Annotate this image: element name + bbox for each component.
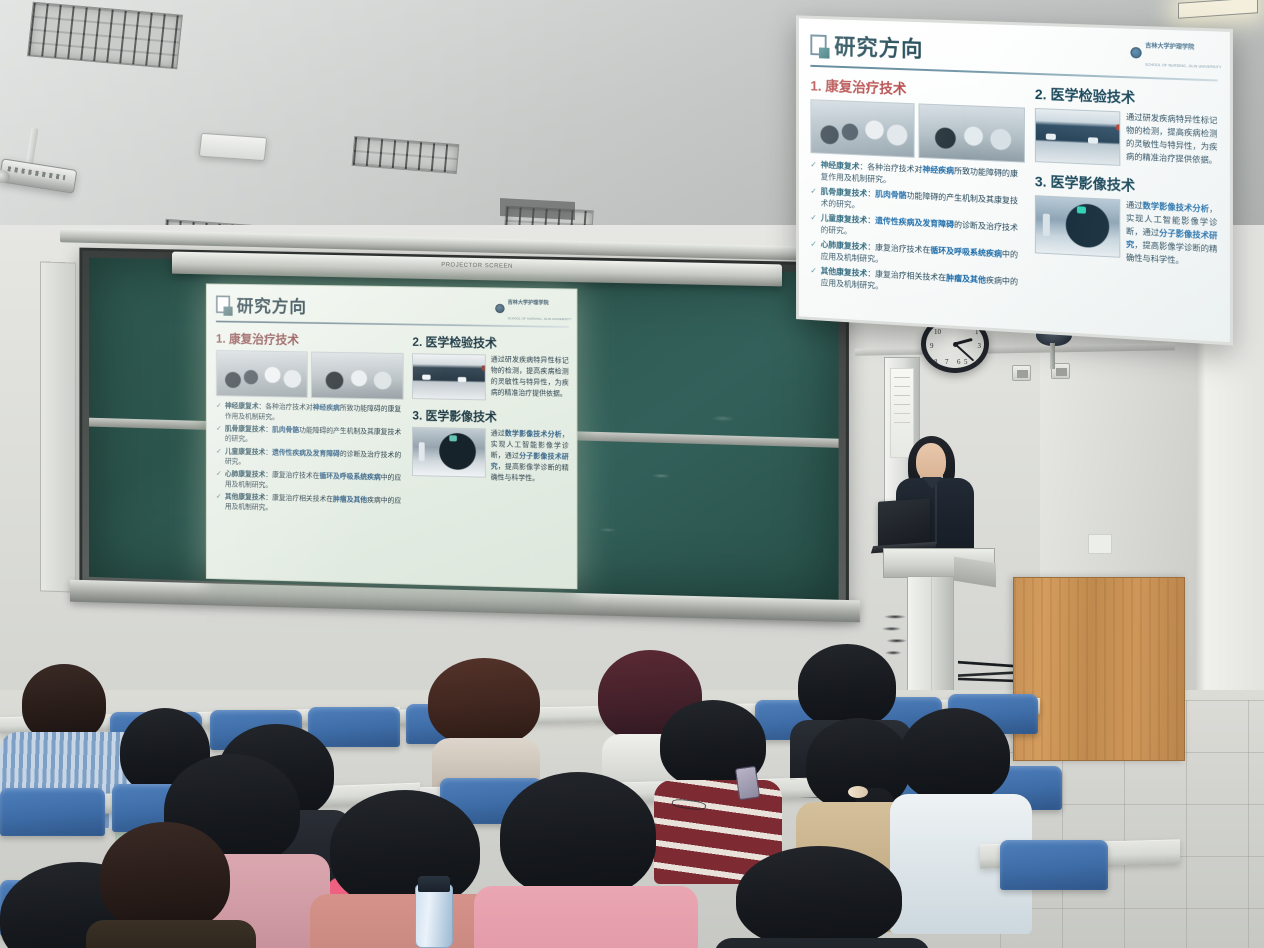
bullet-highlight: 遗传性疾病及发育障碍: [875, 216, 954, 229]
section-2-content: 通过研发疾病特异性标记物的检测，提高疾病检测的灵敏性与特异性，为疾病的精准治疗提…: [1035, 108, 1218, 170]
rehab-training-photo: [216, 350, 308, 398]
slide-columns: 1. 康复治疗技术 ✓ 神经康复术：各种治疗技术对神经疾病所致功能障碍的康复作用…: [810, 76, 1217, 315]
logo-mark-icon: [496, 303, 505, 312]
s3-pre: 通过: [491, 429, 505, 437]
section-3-heading: 3. 医学影像技术: [1035, 171, 1218, 200]
person-hair: [900, 708, 1010, 802]
clinical-lab-photo: [311, 352, 404, 400]
bullet-term: 神经康复术: [225, 402, 259, 410]
wall-mounted-led-display: 吉林大学护理学院 SCHOOL OF NURSING, JILIN UNIVER…: [796, 15, 1233, 345]
mobile-phone[interactable]: [735, 766, 760, 801]
projection-screen: 吉林大学护理学院 SCHOOL OF NURSING, JILIN UNIVER…: [206, 283, 578, 589]
wooden-door-panel[interactable]: [1013, 577, 1185, 761]
posted-notice: [890, 368, 914, 458]
section-1-title: 康复治疗技术: [229, 332, 299, 347]
person-hair: [500, 772, 656, 898]
section-3-title: 医学影像技术: [426, 409, 497, 424]
bullet-highlight: 肿瘤及其他: [333, 495, 367, 503]
logo-text: 吉林大学护理学院: [1145, 43, 1194, 51]
speaker-stem: [1050, 343, 1055, 369]
list-item: ✓ 心肺康复技术：康复治疗技术在循环及呼吸系统疾病中的应用及机制研究。: [216, 469, 404, 493]
section-1-number: 1.: [216, 332, 226, 346]
section-1-number: 1.: [810, 78, 821, 94]
person-hair: [330, 790, 480, 908]
section-3-number: 3.: [412, 408, 422, 422]
section-2-title: 医学检验技术: [1050, 86, 1135, 105]
bullet-term: 心肺康复技术: [821, 240, 868, 251]
s3-hl1: 数学影像技术分析: [505, 430, 562, 439]
bullet-text: 康复治疗相关技术在: [272, 494, 333, 503]
section-3-title: 医学影像技术: [1050, 174, 1135, 194]
check-icon: ✓: [216, 446, 222, 466]
list-item: ✓ 神经康复术：各种治疗技术对神经疾病所致功能障碍的康复作用及机制研究。: [216, 401, 404, 425]
bullet-term: 肌骨康复技术: [225, 425, 265, 433]
logo-subtext: SCHOOL OF NURSING, JILIN UNIVERSITY: [1145, 63, 1221, 70]
auditorium-seat[interactable]: [0, 788, 105, 836]
clinical-lab-photo: [918, 103, 1024, 162]
person-hair: [22, 664, 106, 742]
hair-scrunchie: [848, 786, 868, 798]
check-icon: ✓: [810, 185, 816, 208]
slide-column-left: 1. 康复治疗技术 ✓ 神经康复术：各种治疗技术对神经疾病所致功能障碍的康复作用…: [216, 330, 404, 519]
section-2-number: 2.: [412, 335, 422, 349]
check-icon: ✓: [216, 424, 222, 444]
bullet-term: 儿童康复技术: [225, 447, 265, 455]
presenter-laptop[interactable]: [878, 498, 930, 548]
person-torso: [714, 938, 930, 948]
person-hair: [428, 658, 540, 746]
section-2-number: 2.: [1035, 86, 1047, 102]
section-1-photos: [216, 350, 404, 400]
bullet-term: 神经康复术: [821, 160, 860, 171]
section-2-content: 通过研发疾病特异性标记物的检测，提高疾病检测的灵敏性与特异性，为疾病的精准治疗提…: [412, 353, 568, 402]
section-1-title: 康复治疗技术: [825, 78, 906, 97]
slide-columns: 1. 康复治疗技术 ✓ 神经康复术：各种治疗技术对神经疾病所致功能障碍的康复作用…: [216, 330, 569, 523]
bullet-text: 各种治疗技术对: [867, 163, 922, 174]
power-outlet[interactable]: [1012, 365, 1031, 381]
slide-column-left: 1. 康复治疗技术 ✓ 神经康复术：各种治疗技术对神经疾病所致功能障碍的康复作用…: [810, 76, 1025, 304]
check-icon: ✓: [216, 401, 222, 421]
bullet-highlight: 肌肉骨骼: [272, 426, 299, 434]
bullet-text: 康复治疗技术在: [272, 471, 319, 480]
ct-scanner-photo: [1035, 195, 1120, 258]
section-1-heading: 1. 康复治疗技术: [810, 76, 1025, 104]
section-2-body: 通过研发疾病特异性标记物的检测，提高疾病检测的灵敏性与特异性，为疾病的精准治疗提…: [1126, 112, 1217, 168]
section-3-body: 通过数学影像技术分析，实现人工智能影像学诊断，通过分子影像技术研究，提高影像学诊…: [1126, 199, 1217, 269]
bullet-term: 儿童康复技术: [821, 213, 868, 224]
section-3-content: 通过数学影像技术分析，实现人工智能影像学诊断，通过分子影像技术研究，提高影像学诊…: [412, 427, 568, 485]
section-3-heading: 3. 医学影像技术: [412, 407, 568, 427]
person-torso: [474, 886, 698, 948]
person-torso: [86, 920, 256, 948]
bullet-term: 其他康复技术: [225, 493, 265, 502]
presenter-head: [916, 443, 946, 481]
s3-pre: 通过: [1126, 201, 1143, 211]
document-square-icon: [810, 34, 826, 55]
section-1-photos: [810, 99, 1025, 162]
wall-plate: [1088, 534, 1112, 554]
person-hair: [798, 644, 896, 728]
bullet-highlight: 肿瘤及其他: [946, 273, 986, 284]
slide-title: 研究方向: [834, 29, 923, 64]
section-2-heading: 2. 医学检验技术: [412, 333, 568, 353]
section-3-content: 通过数学影像技术分析，实现人工智能影像学诊断，通过分子影像技术研究，提高影像学诊…: [1035, 195, 1218, 270]
bottle-cap[interactable]: [418, 876, 450, 892]
section-1-heading: 1. 康复治疗技术: [216, 330, 404, 350]
laboratory-analyzer-photo: [1035, 108, 1120, 166]
check-icon: ✓: [810, 212, 816, 235]
check-icon: ✓: [216, 469, 222, 489]
list-item: ✓ 其他康复技术：康复治疗相关技术在肿瘤及其他疾病中的应用及机制研究。: [216, 491, 404, 515]
jilin-university-logo: 吉林大学护理学院 SCHOOL OF NURSING, JILIN UNIVER…: [1131, 34, 1222, 74]
logo-subtext: SCHOOL OF NURSING, JILIN UNIVERSITY: [508, 317, 572, 321]
bullet-term: 其他康复技术: [821, 266, 868, 277]
s3-end: ，提高影像学诊断的精确性与科学性。: [1126, 240, 1217, 265]
ceiling-lamp: [199, 133, 268, 161]
bullet-text: 康复治疗相关技术在: [875, 269, 946, 282]
bullet-term: 心肺康复技术: [225, 470, 265, 478]
bullet-term: 肌骨康复技术: [821, 187, 868, 198]
auditorium-seat[interactable]: [1000, 840, 1108, 890]
section-3-number: 3.: [1035, 173, 1047, 190]
water-bottle[interactable]: [415, 884, 453, 948]
rehab-training-photo: [810, 99, 914, 158]
check-icon: ✓: [810, 159, 816, 182]
check-icon: ✓: [810, 265, 816, 288]
document-square-icon: [216, 295, 230, 313]
bullet-text: 康复治疗技术在: [875, 243, 930, 255]
check-icon: ✓: [810, 238, 816, 261]
logo-mark-icon: [1131, 46, 1142, 58]
ceiling-opening: [500, 198, 575, 220]
auditorium-seat[interactable]: [308, 707, 400, 747]
bullet-highlight: 神经疾病: [922, 165, 954, 175]
logo-text: 吉林大学护理学院: [508, 301, 549, 307]
s3-hl1: 数学影像技术分析: [1143, 201, 1210, 213]
ct-scanner-photo: [412, 427, 485, 478]
lecture-hall-photo: 12 3 6 9 1 4 5 7 8 10 PROJECTOR SCREEN 吉…: [0, 0, 1264, 948]
slide-title: 研究方向: [237, 292, 307, 317]
jilin-university-logo: 吉林大学护理学院 SCHOOL OF NURSING, JILIN UNIVER…: [496, 293, 572, 325]
section-1-bullets: ✓ 神经康复术：各种治疗技术对神经疾病所致功能障碍的康复作用及机制研究。 ✓ 肌…: [810, 159, 1025, 300]
slide-column-right: 2. 医学检验技术 通过研发疾病特异性标记物的检测，提高疾病检测的灵敏性与特异性…: [1035, 84, 1218, 315]
bullet-highlight: 神经疾病: [313, 404, 340, 412]
slide-content-projected: 吉林大学护理学院 SCHOOL OF NURSING, JILIN UNIVER…: [207, 284, 578, 553]
section-1-bullets: ✓ 神经康复术：各种治疗技术对神经疾病所致功能障碍的康复作用及机制研究。 ✓ 肌…: [216, 401, 404, 516]
person-hair: [100, 822, 230, 932]
slide-column-right: 2. 医学检验技术 通过研发疾病特异性标记物的检测，提高疾病检测的灵敏性与特异性…: [412, 333, 568, 523]
section-2-body: 通过研发疾病特异性标记物的检测，提高疾病检测的灵敏性与特异性，为疾病的精准治疗提…: [491, 355, 569, 400]
bullet-highlight: 循环及呼吸系统疾病: [930, 246, 1002, 259]
section-2-title: 医学检验技术: [426, 335, 497, 350]
person-hair: [736, 846, 902, 948]
list-item: ✓ 肌骨康复技术：肌肉骨骼功能障碍的产生机制及其康复技术的研究。: [216, 424, 404, 448]
slide-content-led: 吉林大学护理学院 SCHOOL OF NURSING, JILIN UNIVER…: [799, 18, 1230, 342]
bullet-text: 各种治疗技术对: [265, 403, 312, 412]
equipment-cables: [878, 612, 912, 660]
list-item: ✓ 儿童康复技术：遗传性疾病及发育障碍的诊断及治疗技术的研究。: [216, 446, 404, 470]
s3-end: ，提高影像学诊断的精确性与科学性。: [491, 462, 569, 482]
section-3-body: 通过数学影像技术分析，实现人工智能影像学诊断，通过分子影像技术研究，提高影像学诊…: [491, 428, 569, 485]
check-icon: ✓: [216, 491, 222, 511]
section-2-heading: 2. 医学检验技术: [1035, 84, 1218, 111]
housing-brand-label: PROJECTOR SCREEN: [441, 262, 513, 269]
chalkboard-side-panel: [40, 261, 76, 592]
bullet-highlight: 肌肉骨骼: [875, 190, 906, 200]
bullet-highlight: 遗传性疾病及发育障碍: [272, 448, 340, 457]
bullet-highlight: 循环及呼吸系统疾病: [319, 472, 380, 481]
clock-center-pin: [953, 342, 958, 347]
laboratory-analyzer-photo: [412, 353, 485, 400]
